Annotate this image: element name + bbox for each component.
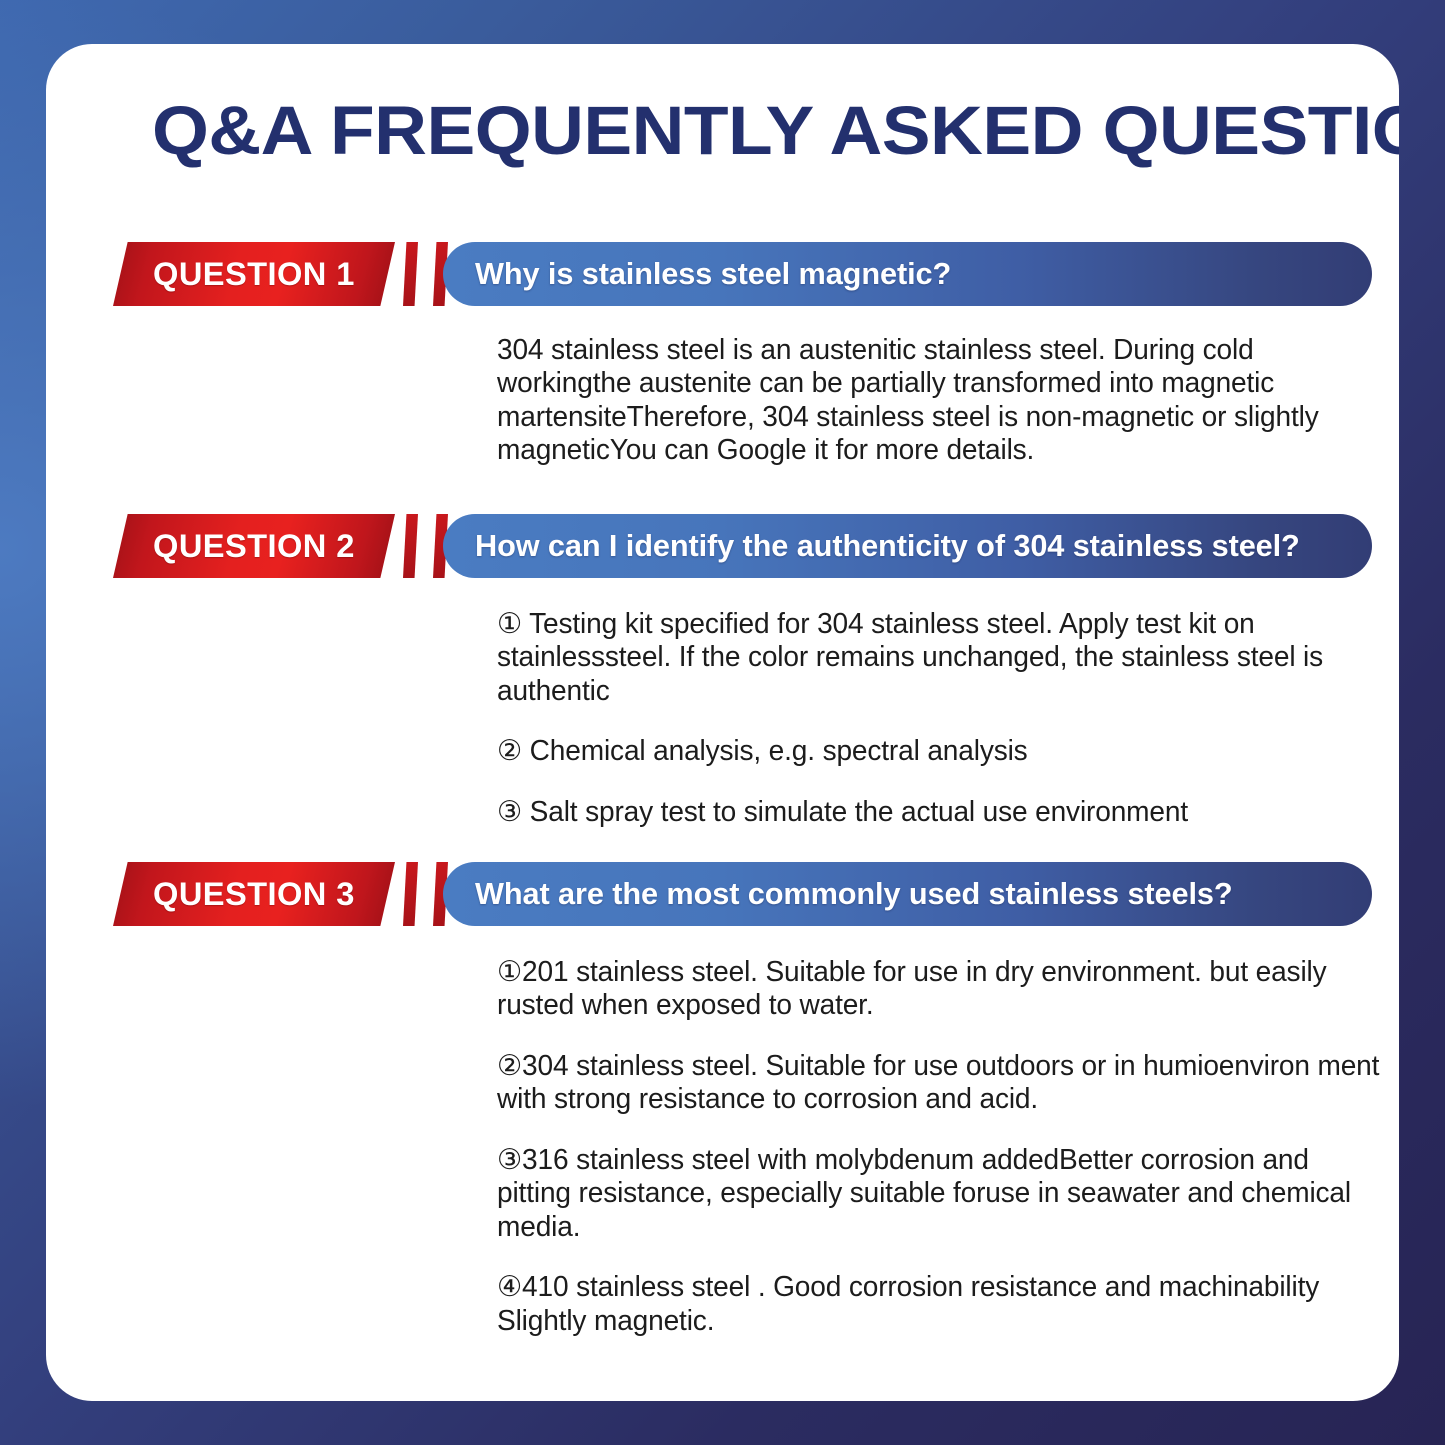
question-tag-2: QUESTION 2 xyxy=(113,514,395,578)
faq-row-2: QUESTION 2 How can I identify the authen… xyxy=(46,514,1399,578)
answer-paragraph: ② Chemical analysis, e.g. spectral analy… xyxy=(497,735,1364,768)
question-text-3: What are the most commonly used stainles… xyxy=(475,876,1233,912)
slash-decor-icon-3a xyxy=(403,862,418,926)
answer-paragraph: ③316 stainless steel with molybdenum add… xyxy=(497,1144,1384,1244)
faq-row-3: QUESTION 3 What are the most commonly us… xyxy=(46,862,1399,926)
faq-row-1: QUESTION 1 Why is stainless steel magnet… xyxy=(46,242,1399,306)
answer-paragraph: ③ Salt spray test to simulate the actual… xyxy=(497,796,1364,829)
question-tag-label-3: QUESTION 3 xyxy=(153,876,355,913)
page-title: Q&A FREQUENTLY ASKED QUESTIONS xyxy=(152,96,1399,165)
answer-paragraph: ④410 stainless steel . Good corrosion re… xyxy=(497,1271,1384,1338)
question-banner-1: Why is stainless steel magnetic? xyxy=(443,242,1372,306)
question-banner-3: What are the most commonly used stainles… xyxy=(443,862,1372,926)
answer-block-3: ①201 stainless steel. Suitable for use i… xyxy=(497,956,1397,1338)
question-text-2: How can I identify the authenticity of 3… xyxy=(475,528,1300,564)
answer-paragraph: 304 stainless steel is an austenitic sta… xyxy=(497,334,1384,468)
infographic-background: Q&A FREQUENTLY ASKED QUESTIONS QUESTION … xyxy=(0,0,1445,1445)
question-tag-1: QUESTION 1 xyxy=(113,242,395,306)
question-text-1: Why is stainless steel magnetic? xyxy=(475,256,951,292)
question-tag-label-2: QUESTION 2 xyxy=(153,528,355,565)
answer-paragraph: ① Testing kit specified for 304 stainles… xyxy=(497,608,1364,708)
answer-paragraph: ①201 stainless steel. Suitable for use i… xyxy=(497,956,1384,1023)
question-tag-3: QUESTION 3 xyxy=(113,862,395,926)
slash-decor-icon-1a xyxy=(403,242,418,306)
answer-paragraph: ②304 stainless steel. Suitable for use o… xyxy=(497,1050,1384,1117)
faq-card: Q&A FREQUENTLY ASKED QUESTIONS QUESTION … xyxy=(46,44,1399,1401)
answer-block-2: ① Testing kit specified for 304 stainles… xyxy=(497,608,1377,829)
slash-decor-icon-2a xyxy=(403,514,418,578)
answer-block-1: 304 stainless steel is an austenitic sta… xyxy=(497,334,1397,468)
question-tag-label-1: QUESTION 1 xyxy=(153,256,355,293)
question-banner-2: How can I identify the authenticity of 3… xyxy=(443,514,1372,578)
